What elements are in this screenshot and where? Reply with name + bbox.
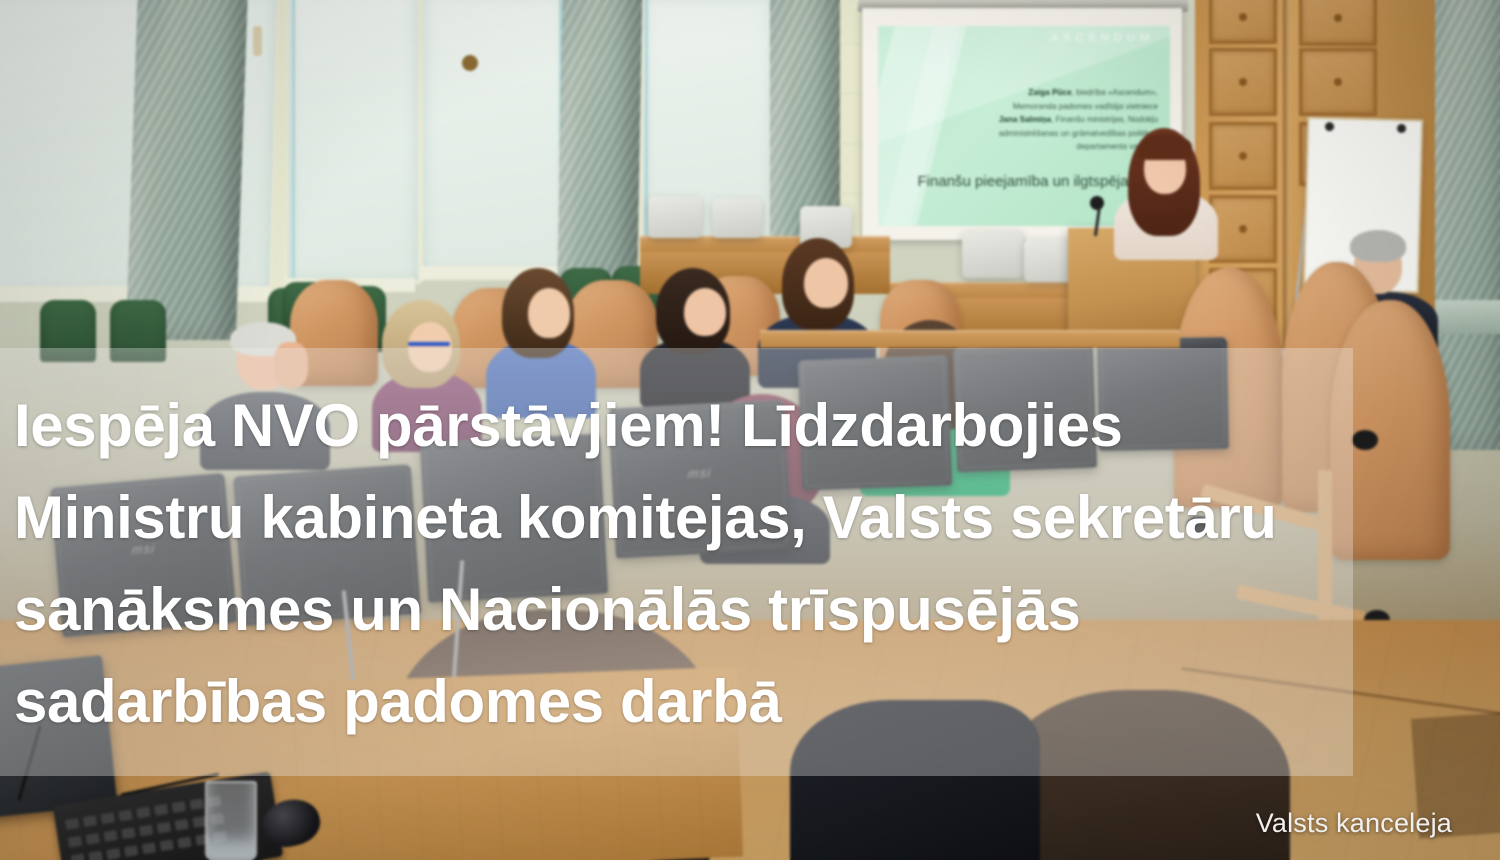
keycap — [68, 836, 82, 848]
keycap — [103, 830, 117, 842]
photo-credit: Valsts kanceleja — [1256, 808, 1452, 839]
slide-brand: ASCENDUM — [1051, 32, 1154, 44]
keycap — [118, 809, 132, 821]
keycap — [101, 812, 115, 824]
participant-head — [684, 288, 726, 336]
keycap — [139, 824, 153, 836]
keycap — [106, 848, 120, 860]
monitor — [962, 230, 1024, 278]
keycap — [160, 839, 174, 851]
door-panel — [1209, 48, 1277, 116]
wall-sconce-icon — [253, 26, 262, 56]
flipchart-clip-icon — [1397, 124, 1406, 133]
keycap — [142, 842, 156, 854]
participant-head — [528, 288, 570, 338]
door-panel — [1299, 48, 1377, 116]
keycap — [157, 822, 171, 834]
slide-speaker-2-name: Jana Salmiņa — [999, 115, 1051, 124]
slide-speaker-1-name: Zaiga Pūce — [1028, 88, 1071, 97]
monitor — [648, 196, 702, 238]
slide-speaker-2-role: , Finanšu ministrijas, Nodokļu — [1051, 115, 1158, 124]
stone-column — [126, 0, 249, 340]
keycap — [189, 798, 203, 810]
speaker-at-podium — [1110, 128, 1220, 248]
keycap — [86, 833, 100, 845]
page-title: Iespēja NVO pārstāvjiem! Līdzdarbojies M… — [14, 380, 1304, 748]
keycap — [174, 819, 188, 831]
keycap — [172, 801, 186, 813]
door-panel — [1299, 0, 1377, 46]
slide-line-2: Memoranda padomes vadītāja vietniece — [888, 100, 1158, 114]
keycap — [136, 807, 150, 819]
keycap — [121, 827, 135, 839]
chair-caster — [1352, 430, 1378, 450]
monitor — [712, 198, 762, 238]
meeting-table — [760, 330, 1180, 348]
wall-sconce-icon — [462, 55, 478, 71]
keycap — [177, 837, 191, 849]
door-seam — [1283, 0, 1290, 350]
man-hair — [1350, 230, 1406, 262]
flipchart-clip-icon — [1325, 122, 1334, 131]
window — [420, 0, 571, 276]
hero-image: ASCENDUM Zaiga Pūce, biedrība «Ascendum»… — [0, 0, 1500, 860]
participant-head — [804, 258, 848, 308]
slide-speaker-1-role: , biedrība «Ascendum», — [1072, 88, 1158, 97]
keycap — [65, 818, 79, 830]
podium-microphone — [1090, 196, 1104, 210]
speaker-hair-front — [1138, 134, 1192, 160]
window — [285, 0, 421, 284]
door-panel — [1209, 0, 1277, 44]
keycap — [88, 851, 102, 860]
keycap — [124, 845, 138, 857]
eyeglasses-icon — [408, 342, 450, 346]
stone-column — [557, 0, 642, 285]
keycap — [154, 804, 168, 816]
water-glass — [205, 781, 257, 860]
keycap — [83, 815, 97, 827]
keycap — [71, 853, 85, 860]
